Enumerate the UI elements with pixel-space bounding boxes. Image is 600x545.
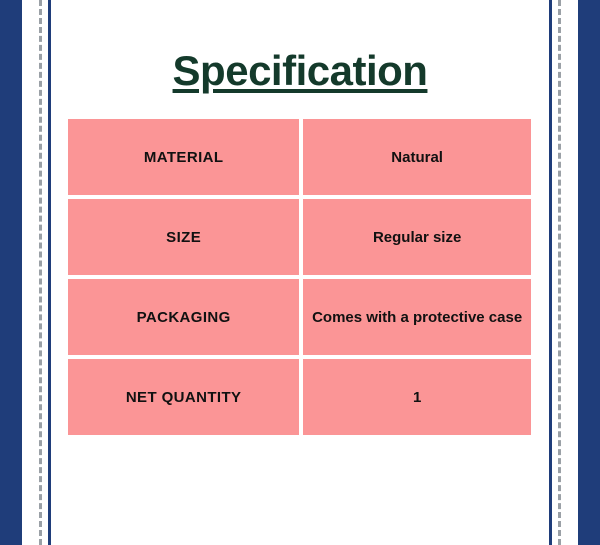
- spec-label-material: MATERIAL: [68, 119, 299, 195]
- spec-value-packaging: Comes with a protective case: [303, 279, 531, 355]
- table-row: PACKAGING Comes with a protective case: [68, 279, 531, 355]
- spec-value-net-quantity: 1: [303, 359, 531, 435]
- specification-page: Specification MATERIAL Natural SIZE Regu…: [0, 0, 600, 545]
- spec-value-material: Natural: [303, 119, 531, 195]
- table-row: SIZE Regular size: [68, 199, 531, 275]
- page-title: Specification: [52, 45, 548, 97]
- spec-value-size: Regular size: [303, 199, 531, 275]
- table-row: MATERIAL Natural: [68, 119, 531, 195]
- spec-label-packaging: PACKAGING: [68, 279, 299, 355]
- right-navy-band: [578, 0, 600, 545]
- right-solid-rule: [549, 0, 552, 545]
- left-dashed-rule: [39, 0, 42, 545]
- left-navy-band: [0, 0, 22, 545]
- spec-label-net-quantity: NET QUANTITY: [68, 359, 299, 435]
- specification-table: MATERIAL Natural SIZE Regular size PACKA…: [64, 115, 535, 439]
- table-row: NET QUANTITY 1: [68, 359, 531, 435]
- content-area: Specification MATERIAL Natural SIZE Regu…: [52, 0, 548, 545]
- spec-label-size: SIZE: [68, 199, 299, 275]
- specification-table-body: MATERIAL Natural SIZE Regular size PACKA…: [68, 119, 531, 435]
- right-dashed-rule: [558, 0, 561, 545]
- left-solid-rule: [48, 0, 51, 545]
